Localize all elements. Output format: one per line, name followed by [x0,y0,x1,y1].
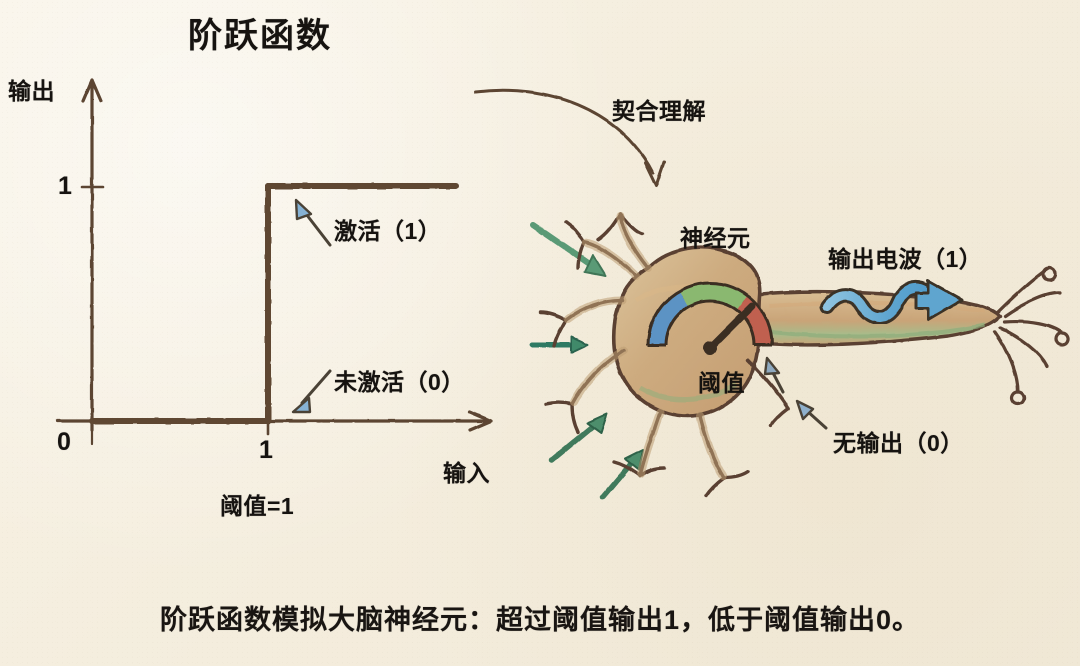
output-wave-label: 输出电波（1） [828,240,982,274]
input-arrow-icon-3 [552,414,607,460]
neuron-svg [0,0,1080,666]
pointer-arrow-icon-nooutput [797,401,826,428]
pointer-arrow-icon-inactive [293,371,330,412]
figure-canvas: 阶跃函数 输出 输入 1 0 1 阈值=1 激活（1） 未激活（0） 契合理解 … [0,0,1080,666]
paper-grain-texture [0,0,1080,666]
neuron-icon-dendrite-shading [568,216,723,476]
x-axis-label: 输入 [443,454,490,488]
pointer-arrow-icon-threshold [765,358,783,392]
wave-arrow-icon [827,281,962,320]
input-arrow-icon-1 [533,225,606,276]
chart-svg [0,0,1080,666]
y-tick-label-1: 1 [58,172,72,201]
fit-arrow-label: 契合理解 [612,92,706,126]
figure-caption: 阶跃函数模拟大脑神经元：超过阈值输出1，低于阈值输出0。 [0,598,1080,637]
input-arrow-icon-2 [532,337,588,353]
input-arrow-icon-4 [603,450,643,497]
gauge-label: 阈值 [698,364,745,398]
neuron-icon-dendrites [540,214,788,496]
gauge-icon [648,283,772,355]
neuron-icon-axon [745,292,1000,345]
annotation-activated: 激活（1） [334,212,441,246]
annotation-inactive: 未激活（0） [334,363,465,397]
threshold-note: 阈值=1 [220,487,294,521]
no-output-label: 无输出（0） [833,424,964,458]
neuron-label: 神经元 [680,219,751,253]
x-tick-label-1: 1 [259,436,273,465]
y-axis-label: 输出 [8,72,55,106]
neuron-icon-axon-terminals [995,268,1068,404]
axis-ticks [82,187,268,444]
y-axis [83,80,101,430]
x-axis [57,412,491,430]
page-title: 阶跃函数 [188,8,332,57]
x-tick-label-0: 0 [57,428,71,457]
pointer-arrow-icon-activated [296,200,330,245]
